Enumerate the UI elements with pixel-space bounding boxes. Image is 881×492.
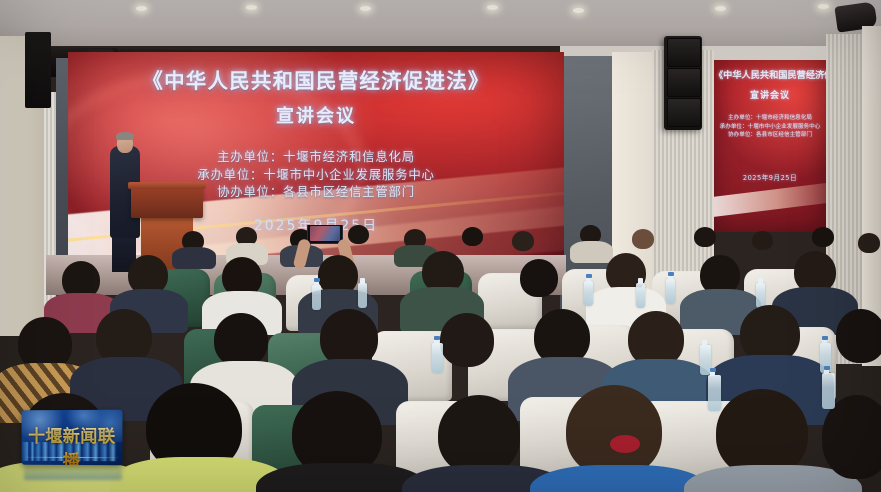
audience-head <box>348 225 369 244</box>
audience-seating-area <box>0 225 881 492</box>
audience-head <box>520 259 558 297</box>
left-wall-speaker <box>25 32 51 108</box>
audience-head <box>566 385 662 477</box>
hair-scrunchie <box>610 435 640 453</box>
organizer-line-host: 主办单位：十堰市经济和信息化局 <box>68 148 564 166</box>
water-bottle <box>358 283 367 308</box>
audience-head <box>632 229 654 249</box>
water-bottle <box>432 343 443 373</box>
organizer-line-coorganizer: 协办单位：各县市区经信主管部门 <box>714 131 826 140</box>
ceiling-downlight <box>573 8 584 13</box>
water-bottle <box>822 373 835 409</box>
ceiling-downlight <box>818 4 829 9</box>
speaker-hair <box>116 132 134 140</box>
screen-law-title: 《中华人民共和国民营经济促进法》 <box>68 64 564 94</box>
broadcast-video-frame: 《中华人民共和国民营经济促进法》 宣讲会议 主办单位：十堰市经济和信息化局 承办… <box>0 0 881 492</box>
audience-head <box>214 313 268 367</box>
water-bottle <box>708 375 721 411</box>
ceiling-downlight <box>487 5 498 10</box>
side-screen-law-title: 《中华人民共和国民营经济促进法》 <box>714 67 826 81</box>
audience-head <box>438 395 520 475</box>
ceiling-downlight <box>136 6 147 11</box>
water-bottle <box>312 285 321 310</box>
audience-head <box>440 313 494 367</box>
audience-torso <box>172 247 216 269</box>
water-bottle <box>636 283 645 308</box>
audience-head <box>512 231 534 251</box>
water-bottle <box>756 283 765 308</box>
ceiling-slab <box>0 0 881 46</box>
audience-head <box>858 233 880 253</box>
channel-bug-label: 十堰新闻联播 <box>22 422 123 465</box>
screen-meeting-subtitle: 宣讲会议 <box>68 102 564 128</box>
audience-head <box>836 309 881 363</box>
audience-head <box>812 227 834 247</box>
podium <box>131 186 203 218</box>
line-array-speaker <box>664 36 702 130</box>
audience-head <box>694 227 716 247</box>
channel-bug: 十堰新闻联播 <box>22 410 123 466</box>
channel-bug-reflection <box>24 464 122 480</box>
water-bottle <box>584 281 593 306</box>
podium-top-surface <box>128 182 206 189</box>
organizer-line-host: 主办单位：十堰市经济和信息化局 <box>714 114 826 123</box>
side-screen-event-date: 2025年9月25日 <box>714 172 826 182</box>
audience-head <box>752 231 773 250</box>
audience-head <box>716 389 808 477</box>
organizer-line-operator: 承办单位：十堰市中小企业发展服务中心 <box>68 166 564 184</box>
side-screen-organizer-list: 主办单位：十堰市经济和信息化局 承办单位：十堰市中小企业发展服务中心 协办单位：… <box>714 114 826 140</box>
audience-head <box>462 227 483 246</box>
organizer-line-operator: 承办单位：十堰市中小企业发展服务中心 <box>714 123 826 132</box>
side-screen-ribbon-graphic <box>714 182 826 218</box>
water-bottle <box>666 279 675 304</box>
side-screen-meeting-subtitle: 宣讲会议 <box>714 88 826 101</box>
ceiling-downlight <box>715 6 726 11</box>
audience-torso <box>570 241 613 263</box>
ceiling-downlight <box>360 6 371 11</box>
side-led-screen: 《中华人民共和国民营经济促进法》 宣讲会议 主办单位：十堰市经济和信息化局 承办… <box>714 60 826 232</box>
ceiling-downlight <box>246 5 257 10</box>
